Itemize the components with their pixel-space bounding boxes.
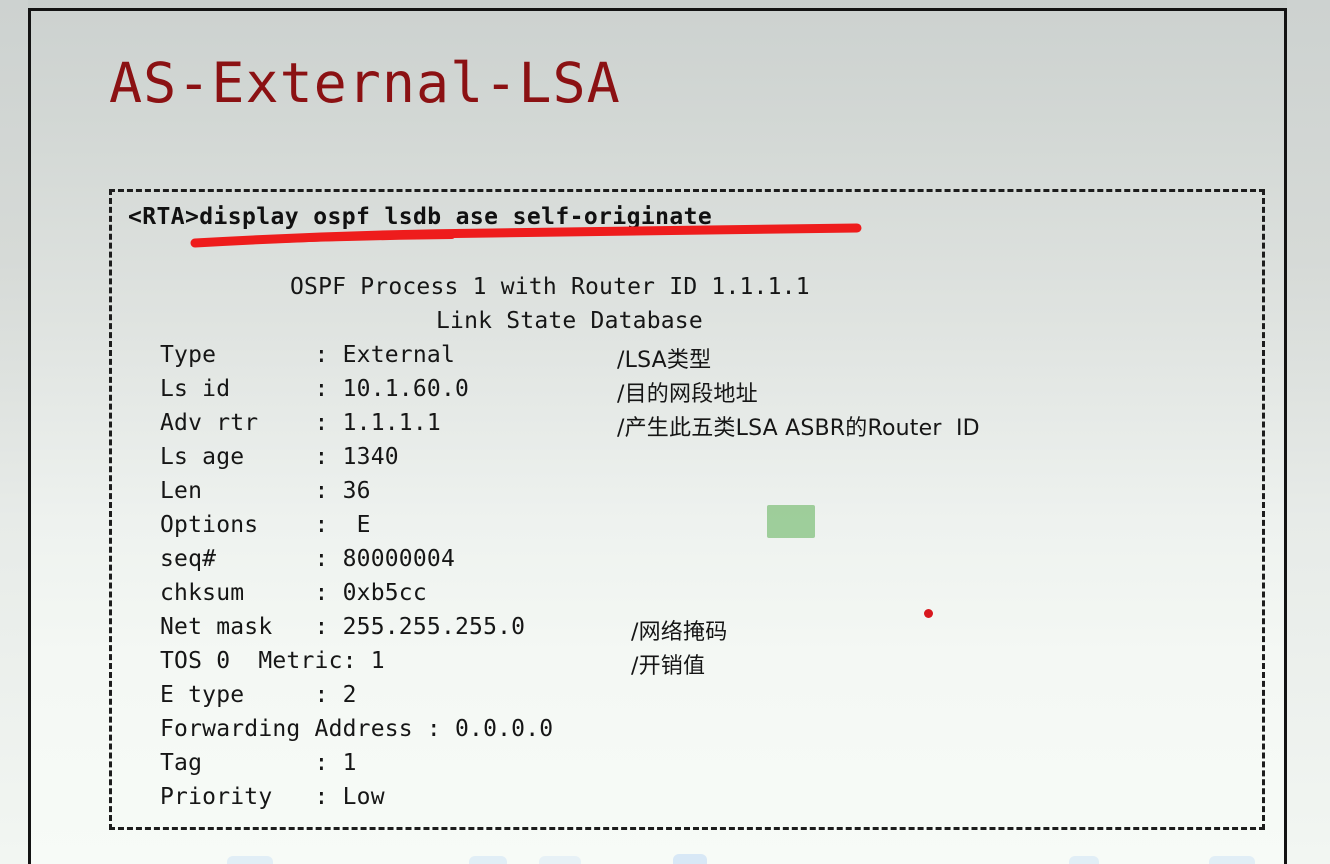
lsa-field-annotation: /产生此五类LSA ASBR的Router ID (617, 410, 980, 442)
lsa-field-text: Ls age : 1340 (160, 444, 399, 470)
slide-root: AS-External-LSA <RTA>display ospf lsdb a… (0, 0, 1330, 864)
link-state-database-header: Link State Database (436, 308, 703, 334)
bottom-chrome-fragment (539, 856, 581, 864)
page-title: AS-External-LSA (109, 51, 621, 115)
bottom-chrome-fragment (1069, 856, 1099, 864)
lsa-field-annotation: /LSA类型 (617, 342, 711, 374)
bottom-chrome-fragment (469, 856, 507, 864)
lsa-field-text: Tag : 1 (160, 750, 357, 776)
lsa-field-text: Type : External (160, 342, 455, 368)
lsa-field-annotation: /开销值 (631, 648, 705, 680)
lsa-field-text: Options : E (160, 512, 371, 538)
slide-right-margin (1287, 0, 1330, 864)
lsa-field-annotation: /目的网段地址 (617, 376, 758, 408)
lsa-field-text: Priority : Low (160, 784, 385, 810)
red-dot-annotation (924, 609, 933, 618)
bottom-chrome-fragment (1209, 856, 1255, 864)
console-output-box: <RTA>display ospf lsdb ase self-originat… (109, 189, 1265, 830)
lsa-field-text: E type : 2 (160, 682, 357, 708)
slide-left-margin (0, 0, 28, 864)
lsa-field-text: seq# : 80000004 (160, 546, 455, 572)
slide-frame: AS-External-LSA <RTA>display ospf lsdb a… (28, 8, 1287, 864)
ospf-process-header: OSPF Process 1 with Router ID 1.1.1.1 (290, 274, 810, 300)
lsa-field-text: Forwarding Address : 0.0.0.0 (160, 716, 553, 742)
lsa-field-text: chksum : 0xb5cc (160, 580, 427, 606)
command-line: <RTA>display ospf lsdb ase self-originat… (128, 204, 712, 230)
console-content: <RTA>display ospf lsdb ase self-originat… (112, 192, 1268, 833)
lsa-field-text: Adv rtr : 1.1.1.1 (160, 410, 441, 436)
bottom-chrome-fragment (673, 854, 707, 864)
lsa-field-text: Net mask : 255.255.255.0 (160, 614, 525, 640)
lsa-field-annotation: /网络掩码 (631, 614, 727, 646)
lsa-field-text: TOS 0 Metric: 1 (160, 648, 385, 674)
lsa-field-text: Ls id : 10.1.60.0 (160, 376, 469, 402)
lsa-field-text: Len : 36 (160, 478, 371, 504)
bottom-chrome-fragment (227, 856, 273, 864)
green-highlighter-mark (767, 505, 815, 538)
